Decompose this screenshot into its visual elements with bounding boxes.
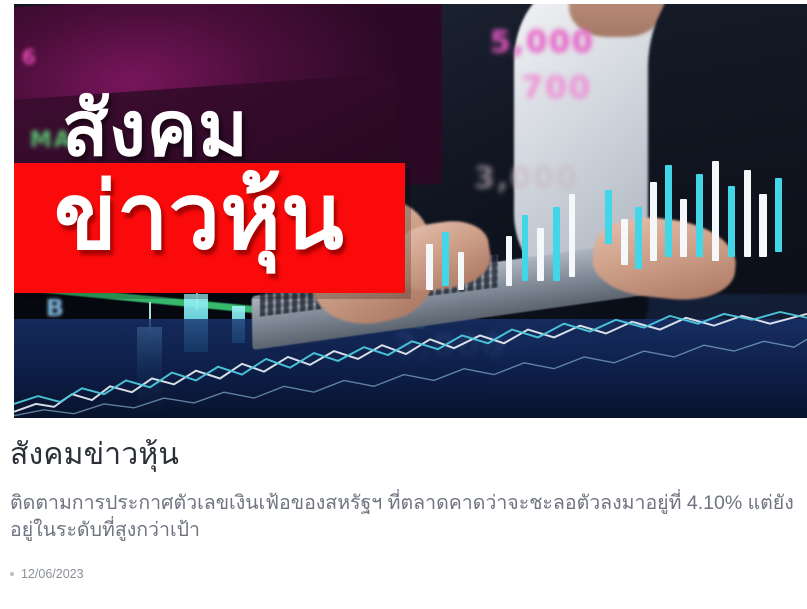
article-headline[interactable]: สังคมข่าวหุ้น bbox=[10, 436, 802, 474]
hero-red-banner: ข่าวหุ้น bbox=[14, 163, 405, 293]
article-hero-image[interactable]: 5,000 700 3,000 6 MA 4,000 3,000 S B bbox=[14, 4, 807, 418]
index-line-chart bbox=[14, 310, 807, 418]
board-quote-5000: 5,000 bbox=[490, 25, 595, 60]
board-quote-700: 700 bbox=[522, 70, 593, 106]
board-quote-6: 6 bbox=[22, 45, 38, 69]
hero-photo: 5,000 700 3,000 6 MA 4,000 3,000 S B bbox=[14, 4, 807, 418]
candlestick-18 bbox=[426, 244, 432, 290]
candlestick-5 bbox=[665, 165, 672, 256]
candlestick-6 bbox=[680, 199, 687, 257]
candlestick-19 bbox=[442, 232, 448, 286]
hero-overlay-title-line1: สังคม bbox=[62, 92, 248, 168]
article-meta: 12/06/2023 bbox=[10, 567, 802, 581]
article-content: สังคมข่าวหุ้น ติดตามการประกาศตัวเลขเงินเ… bbox=[10, 436, 802, 581]
candlestick-16 bbox=[553, 207, 559, 282]
candlestick-20 bbox=[458, 252, 464, 289]
candlestick-15 bbox=[537, 228, 543, 282]
candlestick-2 bbox=[621, 219, 628, 265]
article-card: 5,000 700 3,000 6 MA 4,000 3,000 S B bbox=[0, 0, 807, 609]
candlestick-7 bbox=[696, 174, 703, 257]
candlestick-8 bbox=[712, 161, 719, 260]
candlestick-10 bbox=[744, 170, 751, 257]
candlestick-12 bbox=[775, 178, 782, 253]
index-line-white bbox=[14, 314, 807, 412]
candlestick-1 bbox=[605, 190, 612, 244]
candlestick-11 bbox=[759, 194, 766, 256]
board-quote-3000: 3,000 bbox=[474, 161, 579, 196]
index-line-cyan bbox=[14, 312, 807, 404]
article-date: 12/06/2023 bbox=[21, 567, 84, 581]
candlestick-13 bbox=[506, 236, 512, 286]
candlestick-14 bbox=[522, 215, 528, 281]
candlestick-9 bbox=[728, 186, 735, 256]
article-excerpt: ติดตามการประกาศตัวเลขเงินเฟ้อของสหรัฐฯ ท… bbox=[10, 490, 802, 545]
hero-overlay-title-line2: ข่าวหุ้น bbox=[54, 171, 344, 263]
candlestick-4 bbox=[650, 182, 657, 261]
candlestick-17 bbox=[569, 194, 575, 277]
bullet-icon bbox=[10, 572, 14, 576]
candlestick-3 bbox=[635, 207, 642, 269]
